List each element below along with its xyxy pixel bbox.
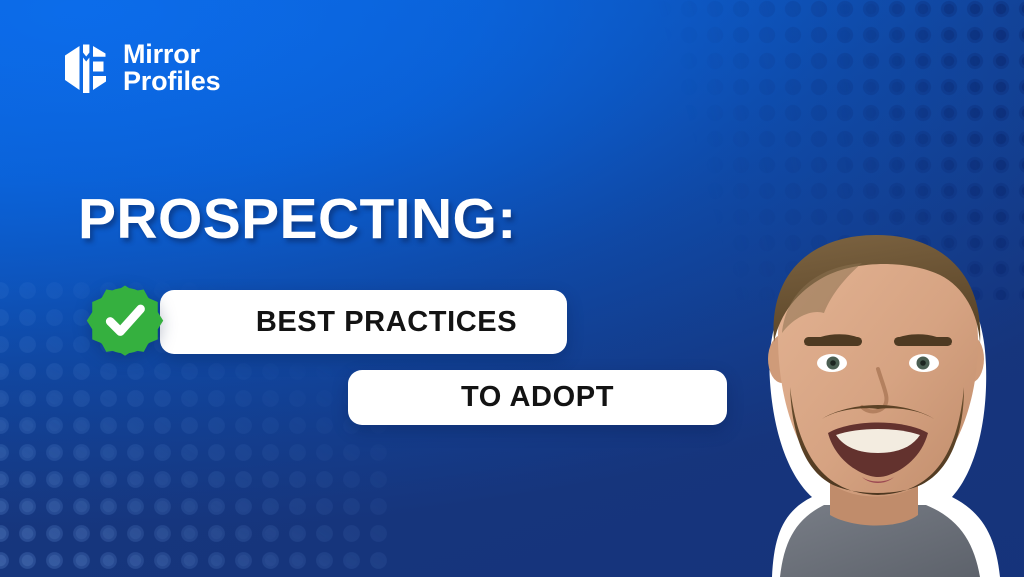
brand-name-line1: Mirror [123,41,220,68]
brand-logo[interactable]: Mirror Profiles [62,40,220,95]
brand-name: Mirror Profiles [123,41,220,95]
brand-name-line2: Profiles [123,68,220,95]
pill-to-adopt-label: TO ADOPT [461,381,614,414]
portrait-photo [712,137,1024,577]
mirror-profiles-monogram-icon [62,40,110,95]
pill-best-practices: BEST PRACTICES [160,290,567,354]
pill-to-adopt: TO ADOPT [348,370,727,425]
pill-best-practices-label: BEST PRACTICES [256,306,517,339]
thumbnail-canvas: Mirror Profiles PROSPECTING: BEST PRACTI… [0,0,1024,577]
check-seal-icon [86,284,164,362]
page-title: PROSPECTING: [78,191,517,248]
